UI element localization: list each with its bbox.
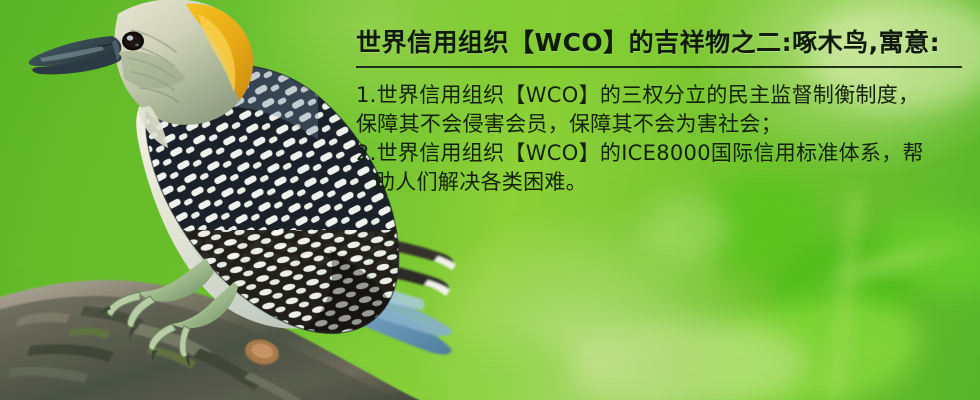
banner-text-block: 世界信用组织【WCO】的吉祥物之二:啄木鸟,寓意: 1.世界信用组织【WCO】的… bbox=[340, 28, 970, 197]
bird-beak bbox=[29, 36, 122, 74]
page-title: 世界信用组织【WCO】的吉祥物之二:啄木鸟,寓意: bbox=[340, 28, 970, 58]
bird-head bbox=[114, 0, 254, 125]
list-item: 2.世界信用组织【WCO】的ICE8000国际信用标准体系，帮 bbox=[356, 139, 970, 168]
list-item: 保障其不会侵害会员，保障其不会为害社会； bbox=[356, 110, 970, 139]
list-item: 1.世界信用组织【WCO】的三权分立的民主监督制衡制度， bbox=[356, 81, 970, 110]
title-underline-divider bbox=[356, 66, 962, 68]
wco-mascot-banner: 世界信用组织【WCO】的吉祥物之二:啄木鸟,寓意: 1.世界信用组织【WCO】的… bbox=[0, 0, 980, 400]
list-item: 助人们解决各类困难。 bbox=[356, 168, 970, 197]
mascot-meaning-list: 1.世界信用组织【WCO】的三权分立的民主监督制衡制度， 保障其不会侵害会员，保… bbox=[340, 81, 970, 197]
